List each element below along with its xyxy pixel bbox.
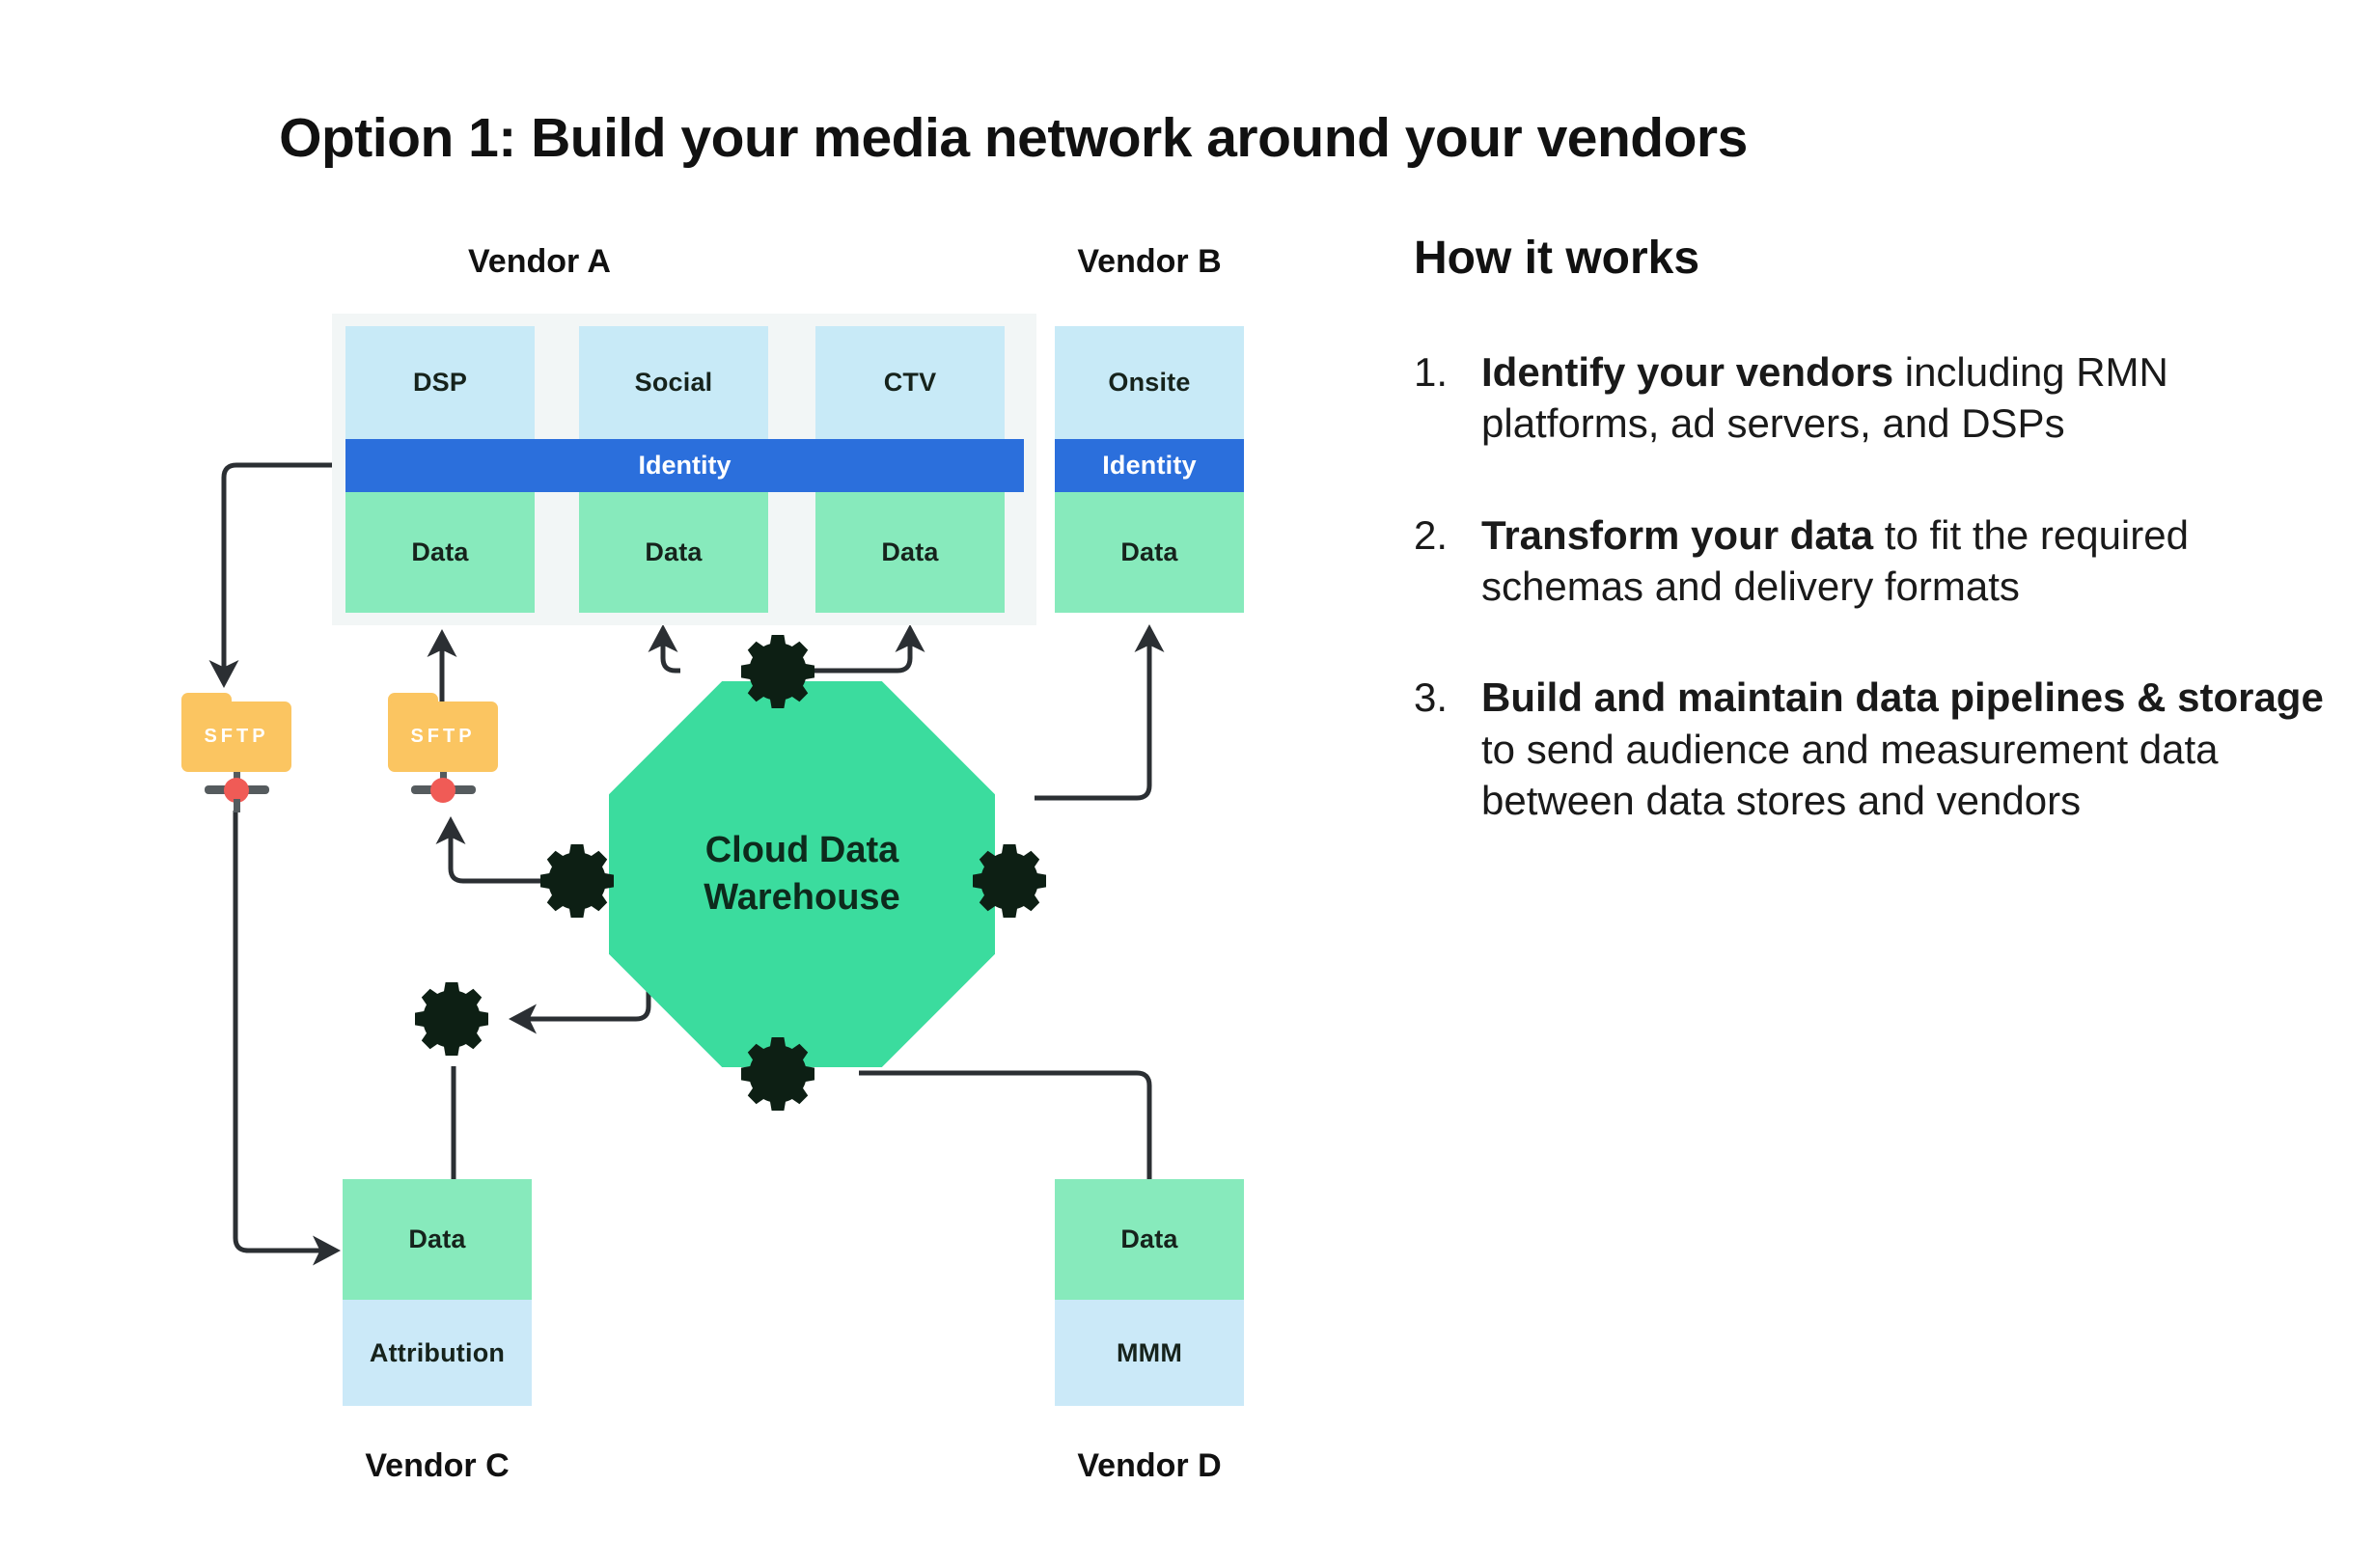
vendor-c-attribution: Attribution (343, 1300, 532, 1406)
vendor-a-label: Vendor A (332, 243, 747, 281)
gear-icon-attribution (407, 973, 500, 1065)
warehouse-line-2: Warehouse (704, 877, 899, 918)
how-it-works-step: 1. Identify your vendors including RMN p… (1414, 346, 2331, 450)
step-number: 3. (1414, 672, 1448, 723)
sftp-connector-dot-icon (430, 778, 455, 803)
how-it-works-title: How it works (1414, 232, 2331, 285)
warehouse-line-1: Cloud Data (705, 830, 899, 870)
vendor-a-identity-band: Identity (345, 439, 1024, 492)
sftp-stem-lower (234, 799, 240, 812)
vendor-d-label: Vendor D (1055, 1447, 1244, 1485)
step-number: 2. (1414, 509, 1448, 561)
how-it-works-step: 3. Build and maintain data pipelines & s… (1414, 672, 2331, 826)
gear-icon-top (733, 625, 826, 718)
cloud-data-warehouse-node: Cloud Data Warehouse (609, 681, 995, 1067)
vendor-d-data: Data (1055, 1179, 1244, 1300)
gear-icon-warehouse-left (533, 835, 625, 927)
vendor-a-social-data: Data (579, 492, 768, 613)
gear-icon-warehouse-right (965, 835, 1058, 927)
vendor-c-data: Data (343, 1179, 532, 1300)
vendor-b-label: Vendor B (1055, 243, 1244, 281)
sftp-right-label: SFTP (388, 701, 498, 772)
architecture-diagram: Vendor A DSP Data Social Data CTV Data I… (0, 0, 1351, 1568)
step-rest-text: to send audience and measurement data be… (1481, 727, 2219, 823)
vendor-a-dsp-data: Data (345, 492, 535, 613)
vendor-b-onsite-channel: Onsite (1055, 326, 1244, 439)
vendor-a-dsp-channel: DSP (345, 326, 535, 439)
step-bold-text: Build and maintain data pipelines & stor… (1481, 674, 2324, 720)
vendor-d-mmm: MMM (1055, 1300, 1244, 1406)
sftp-left-label: SFTP (181, 701, 291, 772)
how-it-works-panel: How it works 1. Identify your vendors in… (1414, 232, 2331, 886)
folder-icon: SFTP (388, 693, 498, 772)
vendor-b-identity: Identity (1055, 439, 1244, 492)
sftp-node-right: SFTP (388, 693, 498, 772)
step-bold-text: Identify your vendors (1481, 349, 1893, 395)
how-it-works-steps: 1. Identify your vendors including RMN p… (1414, 346, 2331, 826)
how-it-works-step: 2. Transform your data to fit the requir… (1414, 509, 2331, 613)
vendor-a-ctv-data: Data (815, 492, 1005, 613)
step-bold-text: Transform your data (1481, 512, 1873, 558)
folder-icon: SFTP (181, 693, 291, 772)
sftp-node-left: SFTP (181, 693, 291, 772)
gear-icon-bottom (733, 1028, 826, 1120)
step-number: 1. (1414, 346, 1448, 398)
vendor-a-social-channel: Social (579, 326, 768, 439)
vendor-a-ctv-channel: CTV (815, 326, 1005, 439)
vendor-b-data: Data (1055, 492, 1244, 613)
vendor-c-label: Vendor C (343, 1447, 532, 1485)
